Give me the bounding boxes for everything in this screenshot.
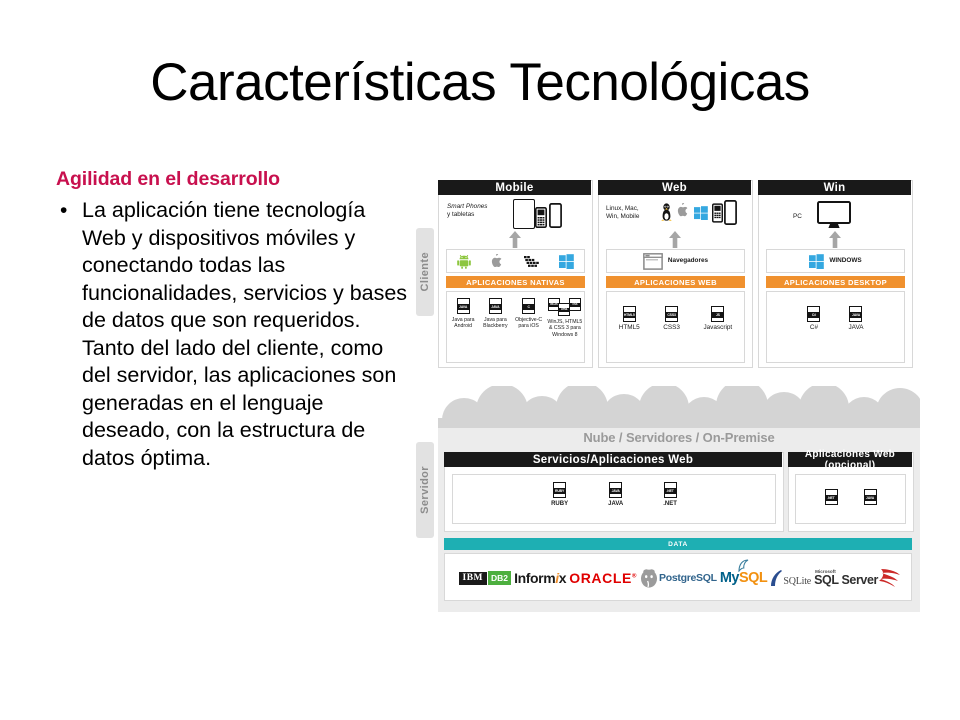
tech-item: CSS3 CSS3: [663, 306, 680, 331]
tablet-icon: [513, 199, 535, 229]
browser-label: Navegadores: [668, 257, 708, 265]
windows-icon: [694, 206, 708, 220]
win-os-box: WINDOWS: [766, 249, 905, 273]
page-title: Características Tecnológicas: [0, 52, 960, 113]
code-file-icon: RUBY: [553, 482, 566, 498]
web-browser-box: Navegadores: [606, 249, 745, 273]
sqlite-feather-icon: [770, 570, 783, 587]
ibm-wordmark: IBM: [459, 572, 487, 585]
desktop-monitor-icon: [817, 201, 851, 229]
panel-services-web: Servicios/Aplicaciones Web RUBY RUBY JAV…: [444, 452, 784, 532]
tech-item: JAVA JAVA: [608, 482, 623, 507]
client-side-label: Cliente: [416, 228, 434, 316]
cloud-label: Nube / Servidores / On-Premise: [438, 430, 920, 445]
server-side-label-text: Servidor: [419, 466, 431, 514]
tech-item: JAVA Java para Blackberry: [480, 298, 510, 330]
informix-part1: Inform: [514, 570, 555, 586]
win-bar-label: APLICACIONES DESKTOP: [766, 276, 905, 288]
data-bar-label: DATA: [444, 538, 912, 550]
win-tech-box: C# C# JAVA JAVA: [766, 291, 905, 363]
column-mobile-header: Mobile: [438, 180, 591, 195]
panel-services-header: Servicios/Aplicaciones Web: [444, 452, 782, 467]
windows-icon: [559, 254, 574, 269]
mobile-device-caption: Smart Phones y tabletas: [447, 203, 509, 219]
web-tech-box: HTML5 HTML5 CSS3 CSS3 JS Javascript: [606, 291, 745, 363]
ibm-db2-logo: IBM DB2: [459, 571, 511, 585]
tech-item-caption: Javascript: [703, 325, 732, 331]
tech-item-caption: WinJS, HTML5 & CSS 3 para Windows 8: [547, 319, 582, 338]
oracle-logo: ORACLE®: [569, 570, 637, 586]
sqlserver-swoosh-icon: [879, 568, 901, 588]
postgresql-logo: PostgreSQL: [640, 569, 717, 588]
server-architecture-diagram: Nube / Servidores / On-Premise Servidor …: [416, 386, 920, 612]
data-section: DATA IBM DB2 Informix ORACLE®: [444, 538, 912, 601]
win-os-label: WINDOWS: [829, 257, 861, 265]
oracle-registered-mark: ®: [632, 573, 637, 579]
tech-item: RUBY RUBY: [551, 482, 568, 507]
mobile-caption-line2: y tabletas: [447, 211, 509, 219]
panel-optional-header: Aplicaciones Web (opcional): [788, 452, 912, 467]
tech-item-caption: CSS3: [663, 325, 680, 331]
apple-icon: [677, 203, 690, 219]
bullet-marker: •: [56, 197, 82, 225]
win-caption-line1: PC: [793, 213, 802, 220]
column-web-header: Web: [598, 180, 751, 195]
code-file-icon: JAVA: [457, 298, 470, 314]
optional-tech-box: .NET JAVA: [795, 474, 906, 524]
apple-icon: [491, 254, 504, 269]
mysql-part2: SQL: [739, 570, 767, 586]
mobile-platform-box: [446, 249, 585, 273]
column-web: Web Linux, Mac, Win, Mobile: [598, 180, 753, 368]
subheading: Agilidad en el desarrollo: [56, 168, 408, 191]
mobile-tech-box: JAVA Java para Android JAVA Java para Bl…: [446, 291, 585, 363]
code-file-icon: JAVA: [489, 298, 502, 314]
tech-item-caption: RUBY: [551, 501, 568, 507]
android-icon: [457, 254, 471, 269]
up-arrow-icon: [828, 231, 842, 248]
mobile-bar-label: APLICACIONES NATIVAS: [446, 276, 585, 288]
code-file-icon: JAVA: [609, 482, 622, 498]
database-logos-box: IBM DB2 Informix ORACLE®: [444, 553, 912, 601]
browser-window-icon: [643, 253, 663, 270]
column-mobile: Mobile Smart Phones y tabletas: [438, 180, 593, 368]
code-file-icon: JAVA: [849, 306, 862, 322]
tech-item-caption: Objective-C para iOS: [515, 317, 542, 330]
web-caption-line2: Win, Mobile: [606, 213, 658, 221]
tech-item: JS Javascript: [703, 306, 732, 331]
tech-item: JAVA Java para Android: [448, 298, 478, 330]
db2-wordmark: DB2: [488, 571, 511, 585]
blackberry-phone-icon: [712, 203, 723, 223]
column-win-header: Win: [758, 180, 911, 195]
bullet-paragraph: La aplicación tiene tecnología Web y dis…: [82, 197, 408, 472]
mysql-dolphin-icon: [738, 559, 751, 572]
oracle-wordmark: ORACLE: [569, 570, 632, 586]
smartphone-icon: [724, 200, 737, 225]
tech-item: HTML5 HTML5: [619, 306, 640, 331]
code-file-icon: C: [522, 298, 535, 314]
tech-item: JAVA: [864, 489, 877, 505]
code-file-icon: JS: [711, 306, 724, 322]
web-device-caption: Linux, Mac, Win, Mobile: [606, 205, 658, 221]
informix-part3: x: [559, 570, 566, 586]
tech-item: C# C#: [807, 306, 820, 331]
code-file-icon: HTML: [558, 303, 570, 316]
mysql-part1: My: [720, 570, 739, 586]
mobile-caption-line1: Smart Phones: [447, 203, 509, 211]
tech-item-caption: .NET: [663, 501, 677, 507]
tech-item-caption: Java para Android: [452, 317, 475, 330]
winjs-stacked-icons: WinJS CSS HTML: [548, 298, 582, 314]
tech-item-caption: JAVA: [608, 501, 623, 507]
text-column: Agilidad en el desarrollo • La aplicació…: [56, 168, 408, 472]
postgresql-wordmark: PostgreSQL: [659, 572, 717, 584]
windows-icon: [809, 254, 824, 269]
sqlite-wordmark: SQLite: [783, 576, 811, 587]
code-file-icon: CSS3: [665, 306, 678, 322]
services-tech-box: RUBY RUBY JAVA JAVA .NET .NET: [452, 474, 776, 524]
tech-item: .NET: [825, 489, 838, 505]
sqlserver-wordmark: SQL Server: [814, 573, 878, 587]
web-caption-line1: Linux, Mac,: [606, 205, 658, 213]
code-file-icon: .NET: [825, 489, 838, 505]
tech-item-caption: JAVA: [848, 325, 863, 331]
tech-item: C Objective-C para iOS: [513, 298, 545, 330]
linux-penguin-icon: [660, 203, 673, 221]
tech-item: .NET .NET: [663, 482, 677, 507]
web-bar-label: APLICACIONES WEB: [606, 276, 745, 288]
blackberry-phone-icon: [535, 207, 547, 228]
up-arrow-icon: [668, 231, 682, 248]
client-architecture-diagram: Cliente Mobile Smart Phones y tabletas: [416, 172, 920, 372]
code-file-icon: JAVA: [864, 489, 877, 505]
informix-logo: Informix: [514, 570, 566, 586]
code-file-icon: CSS: [569, 298, 581, 311]
code-file-icon: HTML5: [623, 306, 636, 322]
up-arrow-icon: [508, 231, 522, 248]
postgres-elephant-icon: [640, 569, 658, 588]
mysql-logo: My SQL: [720, 570, 767, 586]
panel-optional-web: Aplicaciones Web (opcional) .NET JAVA: [788, 452, 914, 532]
smartphone-icon: [549, 203, 562, 228]
win-device-caption: PC: [793, 213, 802, 221]
tech-item-caption: C#: [810, 325, 818, 331]
client-side-label-text: Cliente: [419, 252, 431, 291]
column-win: Win PC WINDOWS APLICACIONES DESKTOP: [758, 180, 913, 368]
tech-item: WinJS CSS HTML WinJS, HTML5 & CSS 3 para…: [547, 298, 583, 338]
code-file-icon: C#: [807, 306, 820, 322]
bullet-item: • La aplicación tiene tecnología Web y d…: [56, 197, 408, 472]
blackberry-icon: [524, 255, 539, 268]
tech-item-caption: HTML5: [619, 325, 640, 331]
server-side-label: Servidor: [416, 442, 434, 538]
code-file-icon: .NET: [664, 482, 677, 498]
tech-item-caption: Java para Blackberry: [483, 317, 508, 330]
sqlserver-logo: Microsoft SQL Server: [814, 568, 901, 588]
tech-item: JAVA JAVA: [848, 306, 863, 331]
sqlite-logo: SQLite: [770, 570, 811, 587]
